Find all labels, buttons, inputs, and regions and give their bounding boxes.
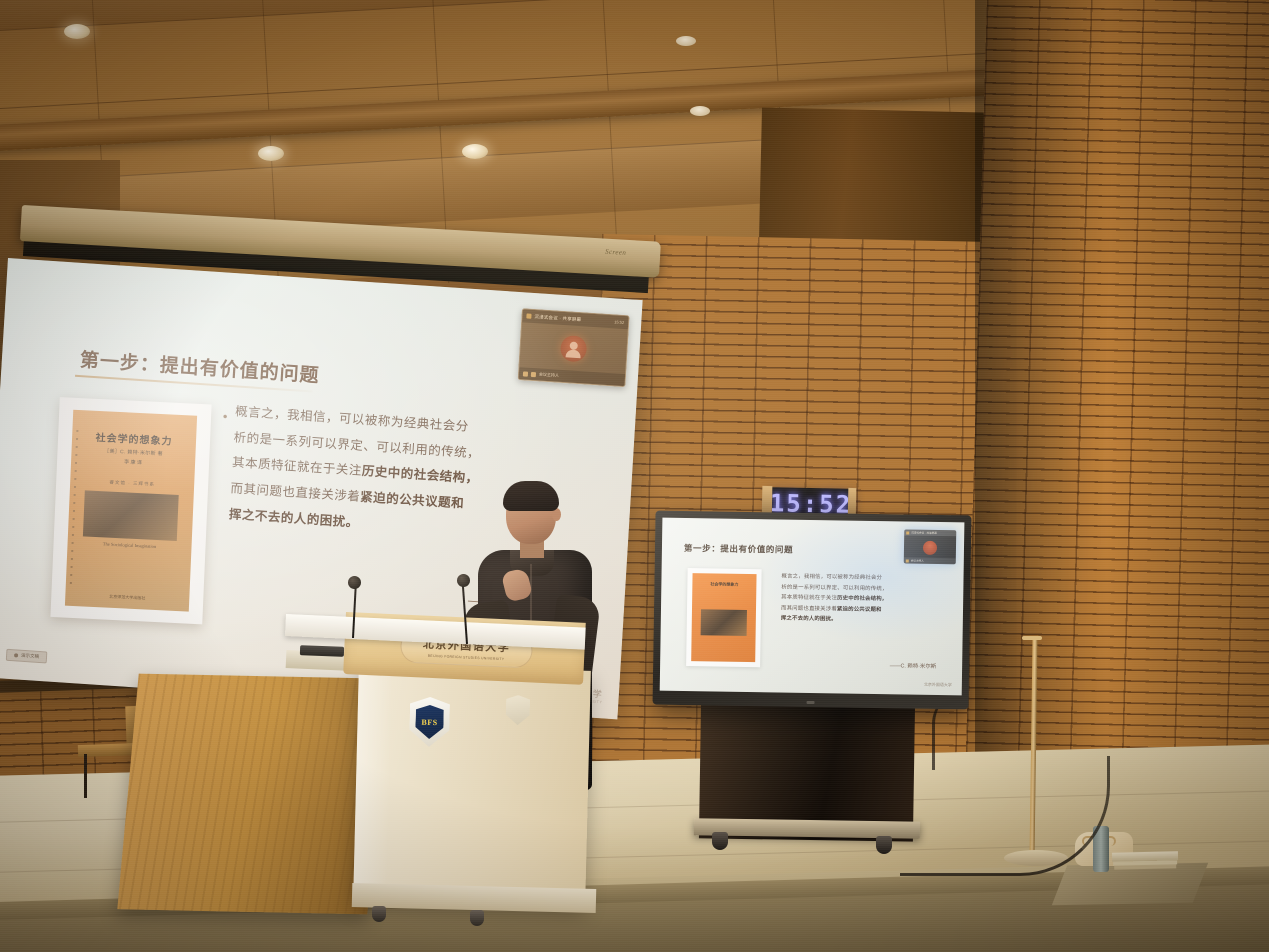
- video-conference-titlebar: 沉浸式会议 · 共享屏幕 15:52: [522, 309, 629, 329]
- chair-leg: [84, 754, 87, 798]
- camera-icon[interactable]: [531, 371, 536, 376]
- podium-caster: [470, 910, 484, 926]
- confidence-monitor: 第一步：提出有价值的问题 社会学的想象力 概言之，我相信，可以被称为经典社会分 …: [652, 511, 971, 710]
- quote-line-4-bold: 紧迫的公共议题和: [360, 490, 465, 511]
- podium-body: BFS: [353, 665, 591, 907]
- monitor-video-conference-panel: 沉浸式会议 · 共享屏幕 会议主持人: [904, 529, 957, 564]
- video-conference-panel[interactable]: 沉浸式会议 · 共享屏幕 15:52 会议主持人: [518, 308, 630, 387]
- tv-cart-caster: [712, 832, 728, 850]
- monitor-book-title: 社会学的想象力: [692, 581, 756, 588]
- book-title-english: The Sociological Imagination: [68, 540, 192, 551]
- monitor-book-photo: [701, 609, 747, 636]
- monitor-vc-title: 沉浸式会议 · 共享屏幕: [911, 531, 937, 535]
- monitor-quote-line-3-bold: 历史中的社会结构，: [837, 595, 887, 602]
- lecture-hall-photo: Screen 第一步：提出有价值的问题 社会学的想象力 ［美］C. 赖特·米尔斯…: [0, 0, 1269, 952]
- book-publisher: 北京师范大学出版社: [65, 592, 189, 604]
- monitor-university-logo: 北京外国语大学: [924, 682, 952, 688]
- monitor-microphone-icon: [906, 559, 909, 562]
- emblem-letters: BFS: [415, 705, 444, 740]
- monitor-brand-badge: [807, 701, 815, 704]
- stage-ramp: [1052, 863, 1208, 905]
- monitor-user-avatar-icon: [923, 540, 937, 554]
- monitor-quote-line-4-bold: 紧迫的公共议题和: [837, 606, 882, 613]
- podium-secondary-emblem: [506, 695, 531, 726]
- video-conference-title: 沉浸式会议 · 共享屏幕: [534, 314, 581, 323]
- presentation-icon: [14, 653, 18, 657]
- book-cover: 社会学的想象力 ［美］C. 赖特·米尔斯 著 李 康 译 睿文馆 · 三辉书系 …: [65, 410, 197, 612]
- quote-bullet: •: [222, 409, 227, 424]
- ceiling-downlight: [258, 146, 284, 161]
- user-avatar-icon: [560, 335, 588, 363]
- side-table-equipment: [300, 645, 344, 657]
- book-cover-photo: [83, 490, 179, 541]
- monitor-quote-text: 概言之，我相信，可以被称为经典社会分 析的是一系列可以界定、可以利用的传统， 其…: [781, 572, 932, 627]
- video-conference-time: 15:52: [614, 319, 624, 325]
- microphone-capsule: [348, 576, 361, 589]
- tv-cart-caster: [876, 836, 892, 854]
- book-stack: [1112, 851, 1178, 861]
- slide-title: 第一步：提出有价值的问题: [79, 345, 320, 388]
- monitor-quote-line-4-plain: 而其问题也直接关涉着: [781, 605, 837, 612]
- screen-brand-label: Screen: [605, 248, 627, 257]
- quote-line-3-bold: 历史中的社会结构，: [361, 464, 479, 486]
- monitor-book-cover: 社会学的想象力: [691, 573, 756, 662]
- video-conference-participant-name: 会议主持人: [539, 371, 559, 378]
- monitor-quote-line-3-plain: 其本质特征就在于关注: [781, 595, 837, 602]
- slide-book-image: 社会学的想象力 ［美］C. 赖特·米尔斯 著 李 康 译 睿文馆 · 三辉书系 …: [50, 397, 211, 624]
- monitor-screen: 第一步：提出有价值的问题 社会学的想象力 概言之，我相信，可以被称为经典社会分 …: [660, 518, 965, 696]
- podium-caster: [372, 906, 386, 922]
- monitor-vc-titlebar: 沉浸式会议 · 共享屏幕: [904, 529, 956, 536]
- monitor-attribution: ——C. 赖特·米尔斯: [890, 661, 937, 670]
- podium-nameplate-en: BEIJING FOREIGN STUDIES UNIVERSITY: [428, 654, 505, 661]
- university-emblem: BFS: [409, 696, 450, 747]
- share-screen-icon: [526, 313, 531, 318]
- presenter-hair: [503, 481, 559, 511]
- podium-wood-panel: [117, 674, 388, 915]
- monitor-quote-line-5-bold: 挥之不去的人的困扰。: [781, 616, 837, 623]
- video-conference-footer: 会议主持人: [519, 367, 625, 386]
- smoke-detector: [676, 36, 696, 46]
- microphone-icon[interactable]: [523, 371, 528, 376]
- monitor-book-image: 社会学的想象力: [686, 568, 762, 667]
- quote-line-5-bold: 挥之不去的人的困扰。: [229, 507, 360, 530]
- presentation-control-button[interactable]: 演示文稿: [6, 649, 48, 664]
- monitor-share-screen-icon: [906, 531, 909, 534]
- monitor-quote-line-5: 挥之不去的人的困扰。: [781, 614, 931, 627]
- smoke-detector: [690, 106, 710, 116]
- monitor-vc-participant-name: 会议主持人: [911, 559, 924, 563]
- monitor-slide-title: 第一步：提出有价值的问题: [684, 542, 793, 556]
- monitor-vc-footer: 会议主持人: [904, 557, 956, 564]
- microphone-capsule: [457, 574, 470, 587]
- quote-line-3-plain: 其本质特征就在于关注: [232, 456, 363, 479]
- presentation-control-label: 演示文稿: [21, 653, 39, 660]
- book-series: 睿文馆 · 三辉书系: [70, 478, 194, 490]
- book-title: 社会学的想象力: [72, 428, 196, 449]
- ceiling-downlight: [462, 144, 488, 159]
- quote-line-4-plain: 而其问题也直接关涉着: [230, 481, 361, 504]
- ceiling-downlight: [64, 24, 90, 39]
